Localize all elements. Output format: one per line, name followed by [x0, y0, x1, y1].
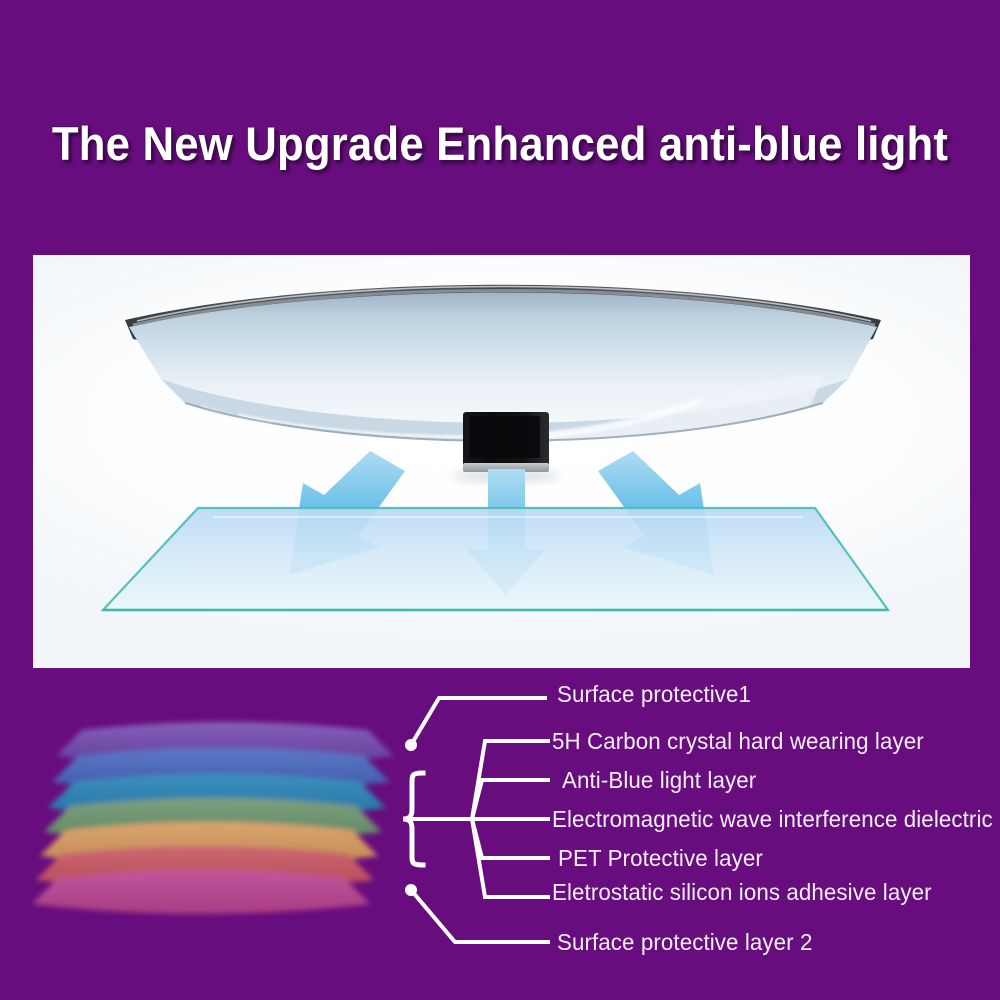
callout-label-anti-blue-light: Anti-Blue light layer [562, 767, 756, 794]
callout-label-pet-protective: PET Protective layer [558, 845, 763, 872]
leader-dot-top [405, 739, 417, 751]
curved-monitor-illustration [33, 255, 970, 668]
leader-dot-bottom [405, 884, 417, 896]
page-title: The New Upgrade Enhanced anti-blue light [35, 116, 965, 171]
callout-label-surface-protective-1: Surface protective1 [557, 681, 751, 708]
stack-layer-7 [32, 870, 370, 914]
fan-line-4 [472, 819, 548, 858]
screen-protector-sheet [103, 508, 888, 610]
fan-line-2 [472, 780, 548, 819]
film-layer-stack [20, 700, 430, 920]
callout-label-surface-protective-2: Surface protective layer 2 [557, 929, 813, 956]
infographic-root: The New Upgrade Enhanced anti-blue light [0, 0, 1000, 1000]
callout-label-eletrostatic: Eletrostatic silicon ions adhesive layer [552, 879, 932, 906]
callout-label-electromagnetic: Electromagnetic wave interference dielec… [552, 806, 1000, 833]
callout-label-carbon-crystal: 5H Carbon crystal hard wearing layer [552, 728, 924, 755]
illustration-panel [33, 255, 970, 668]
leader-line-top [411, 698, 545, 745]
